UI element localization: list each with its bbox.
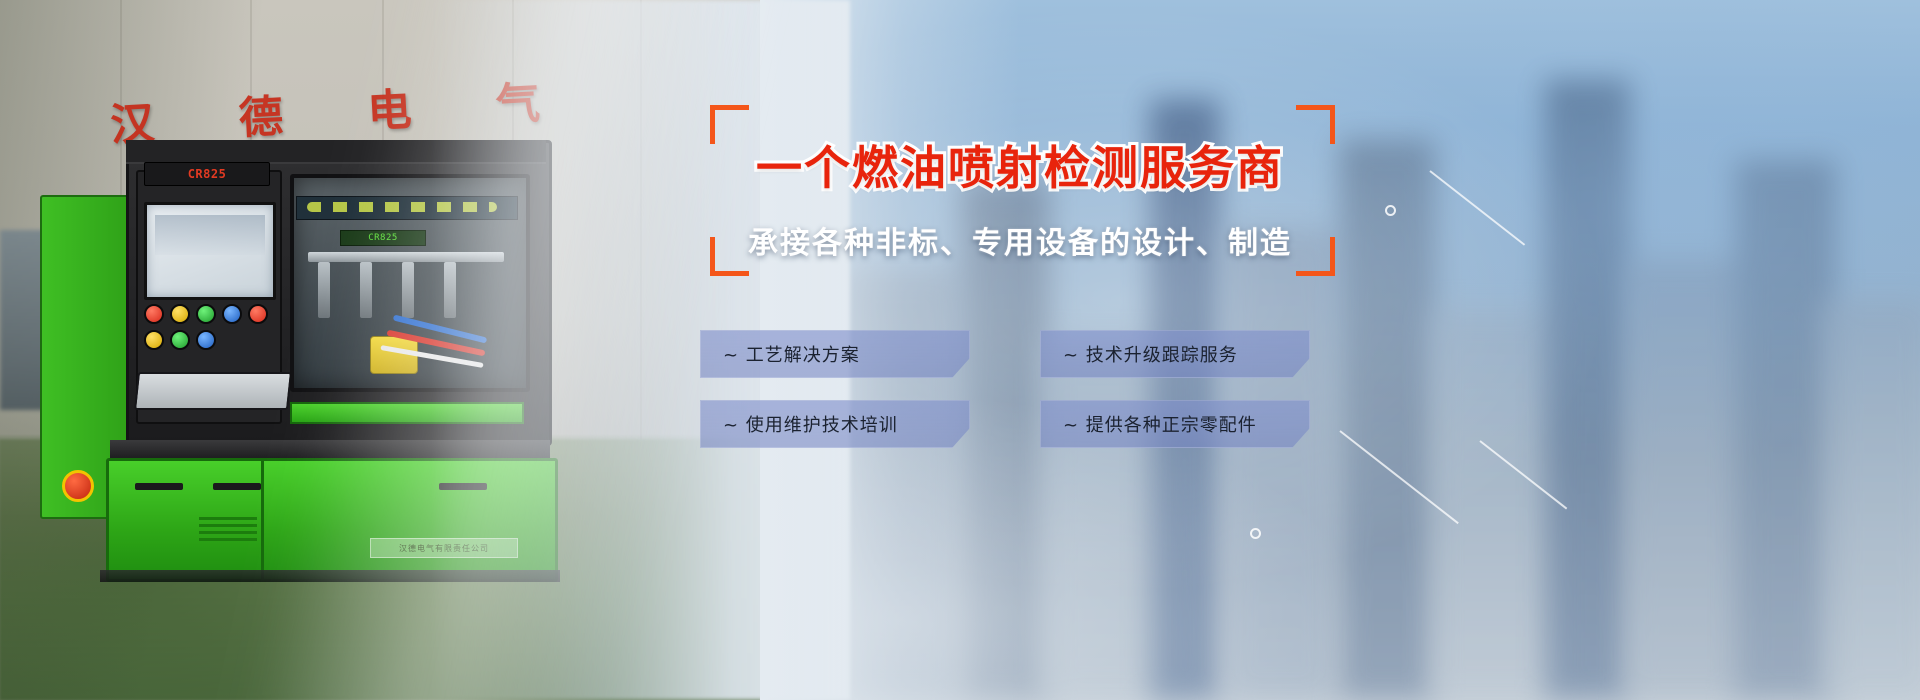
feature-pill-label-1: ~ 工艺解决方案 [701,341,860,367]
cabinet-vent [199,517,257,545]
wall-char-2: 德 [237,80,284,146]
feature-pill-list: ~ 工艺解决方案 ~ 技术升级跟踪服务 ~ 使用维护技术培训 ~ 提供各种正宗零… [700,330,1360,448]
injector-1 [318,262,330,318]
banner-content: 一个燃油喷射检测服务商 承接各种非标、专用设备的设计、制造 ~ 工艺解决方案 ~… [700,0,1400,700]
emergency-stop-button[interactable] [62,470,94,502]
machine-model-label: CR825 [144,162,270,186]
hero-banner: 汉 德 电 气 CR825 C [0,0,1920,700]
feature-pill-tech-upgrade-service[interactable]: ~ 技术升级跟踪服务 [1040,330,1310,378]
feature-pill-process-solution[interactable]: ~ 工艺解决方案 [700,330,970,378]
machine-display-screen [144,202,276,300]
feature-pill-label-4: ~ 提供各种正宗零配件 [1041,411,1257,437]
feature-pill-label-2: ~ 技术升级跟踪服务 [1041,341,1238,367]
feature-pill-genuine-parts[interactable]: ~ 提供各种正宗零配件 [1040,400,1310,448]
feature-pill-maintenance-training[interactable]: ~ 使用维护技术培训 [700,400,970,448]
cabinet-handle-left [135,483,183,490]
machine-keyboard [134,372,292,410]
banner-headline: 一个燃油喷射检测服务商 [700,132,1340,198]
cabinet-handle-mid [213,483,261,490]
feature-pill-label-3: ~ 使用维护技术培训 [701,411,898,437]
banner-subtitle: 承接各种非标、专用设备的设计、制造 [700,218,1340,262]
machine-indicator-buttons [144,304,270,350]
